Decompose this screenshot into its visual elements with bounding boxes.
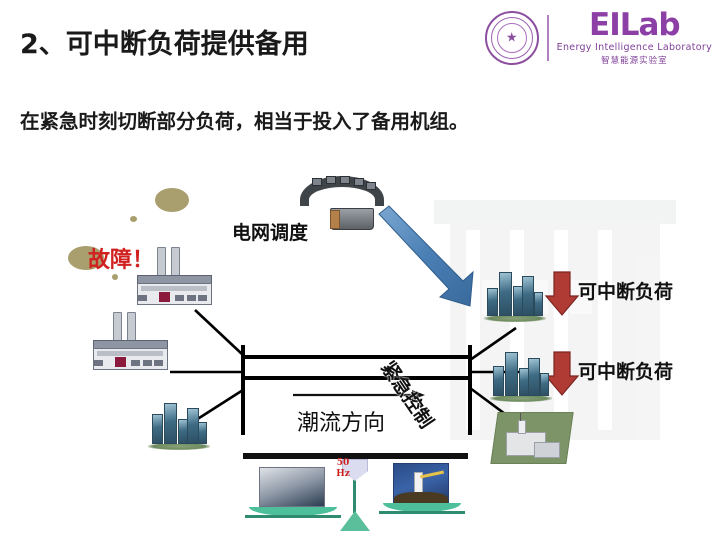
lab-logo: ★ EILab Energy Intelligence Laboratory 智… — [485, 10, 712, 66]
fault-smoke-cloud-3 — [130, 216, 137, 222]
frequency-value: 50 — [337, 458, 350, 468]
grid-dispatch-label: 电网调度 — [232, 218, 308, 245]
seal-star-icon: ★ — [506, 32, 518, 45]
fault-smoke-cloud-4 — [112, 274, 118, 280]
interruptible-load-label-1: 可中断负荷 — [578, 277, 673, 304]
eilab-logo: EILab Energy Intelligence Laboratory 智慧能… — [557, 10, 712, 66]
interruptible-load-arrow-1 — [546, 272, 578, 315]
emergency-control-arrow — [379, 206, 473, 306]
city-load-upper-right-icon — [484, 266, 546, 322]
government-building-icon — [494, 412, 570, 464]
university-seal-icon: ★ — [485, 11, 539, 65]
generation-photo — [259, 467, 325, 507]
city-load-lower-right-icon — [490, 346, 552, 402]
eilab-wordmark: EILab — [589, 10, 680, 41]
diagram-canvas: 故障！ 电网调度 紧急控制 可中断负荷 可中断负荷 潮流方向 50 Hz — [0, 150, 720, 540]
slide-subtitle: 在紧急时刻切断部分负荷，相当于投入了备用机组。 — [20, 105, 469, 134]
slide-header: 2、可中断负荷提供备用 ★ EILab Energy Intelligence … — [0, 0, 720, 78]
fault-label: 故障！ — [88, 242, 154, 274]
power-flow-label: 潮流方向 — [297, 405, 385, 437]
power-plant-lower-icon — [93, 312, 168, 370]
fault-smoke-cloud-1 — [155, 188, 189, 212]
eilab-english-name: Energy Intelligence Laboratory — [557, 42, 712, 53]
balance-fulcrum — [340, 511, 370, 531]
grid-dispatch-desk-icon — [300, 176, 384, 232]
city-load-left-icon — [148, 398, 210, 450]
eilab-chinese-name: 智慧能源实验室 — [601, 54, 668, 66]
interruptible-load-label-2: 可中断负荷 — [578, 357, 673, 384]
frequency-unit: Hz — [336, 469, 350, 479]
frequency-label: 50 Hz — [326, 458, 360, 480]
logo-divider — [547, 15, 549, 61]
page-title: 2、可中断负荷提供备用 — [20, 22, 309, 61]
feeder-plant-upper — [195, 310, 243, 355]
